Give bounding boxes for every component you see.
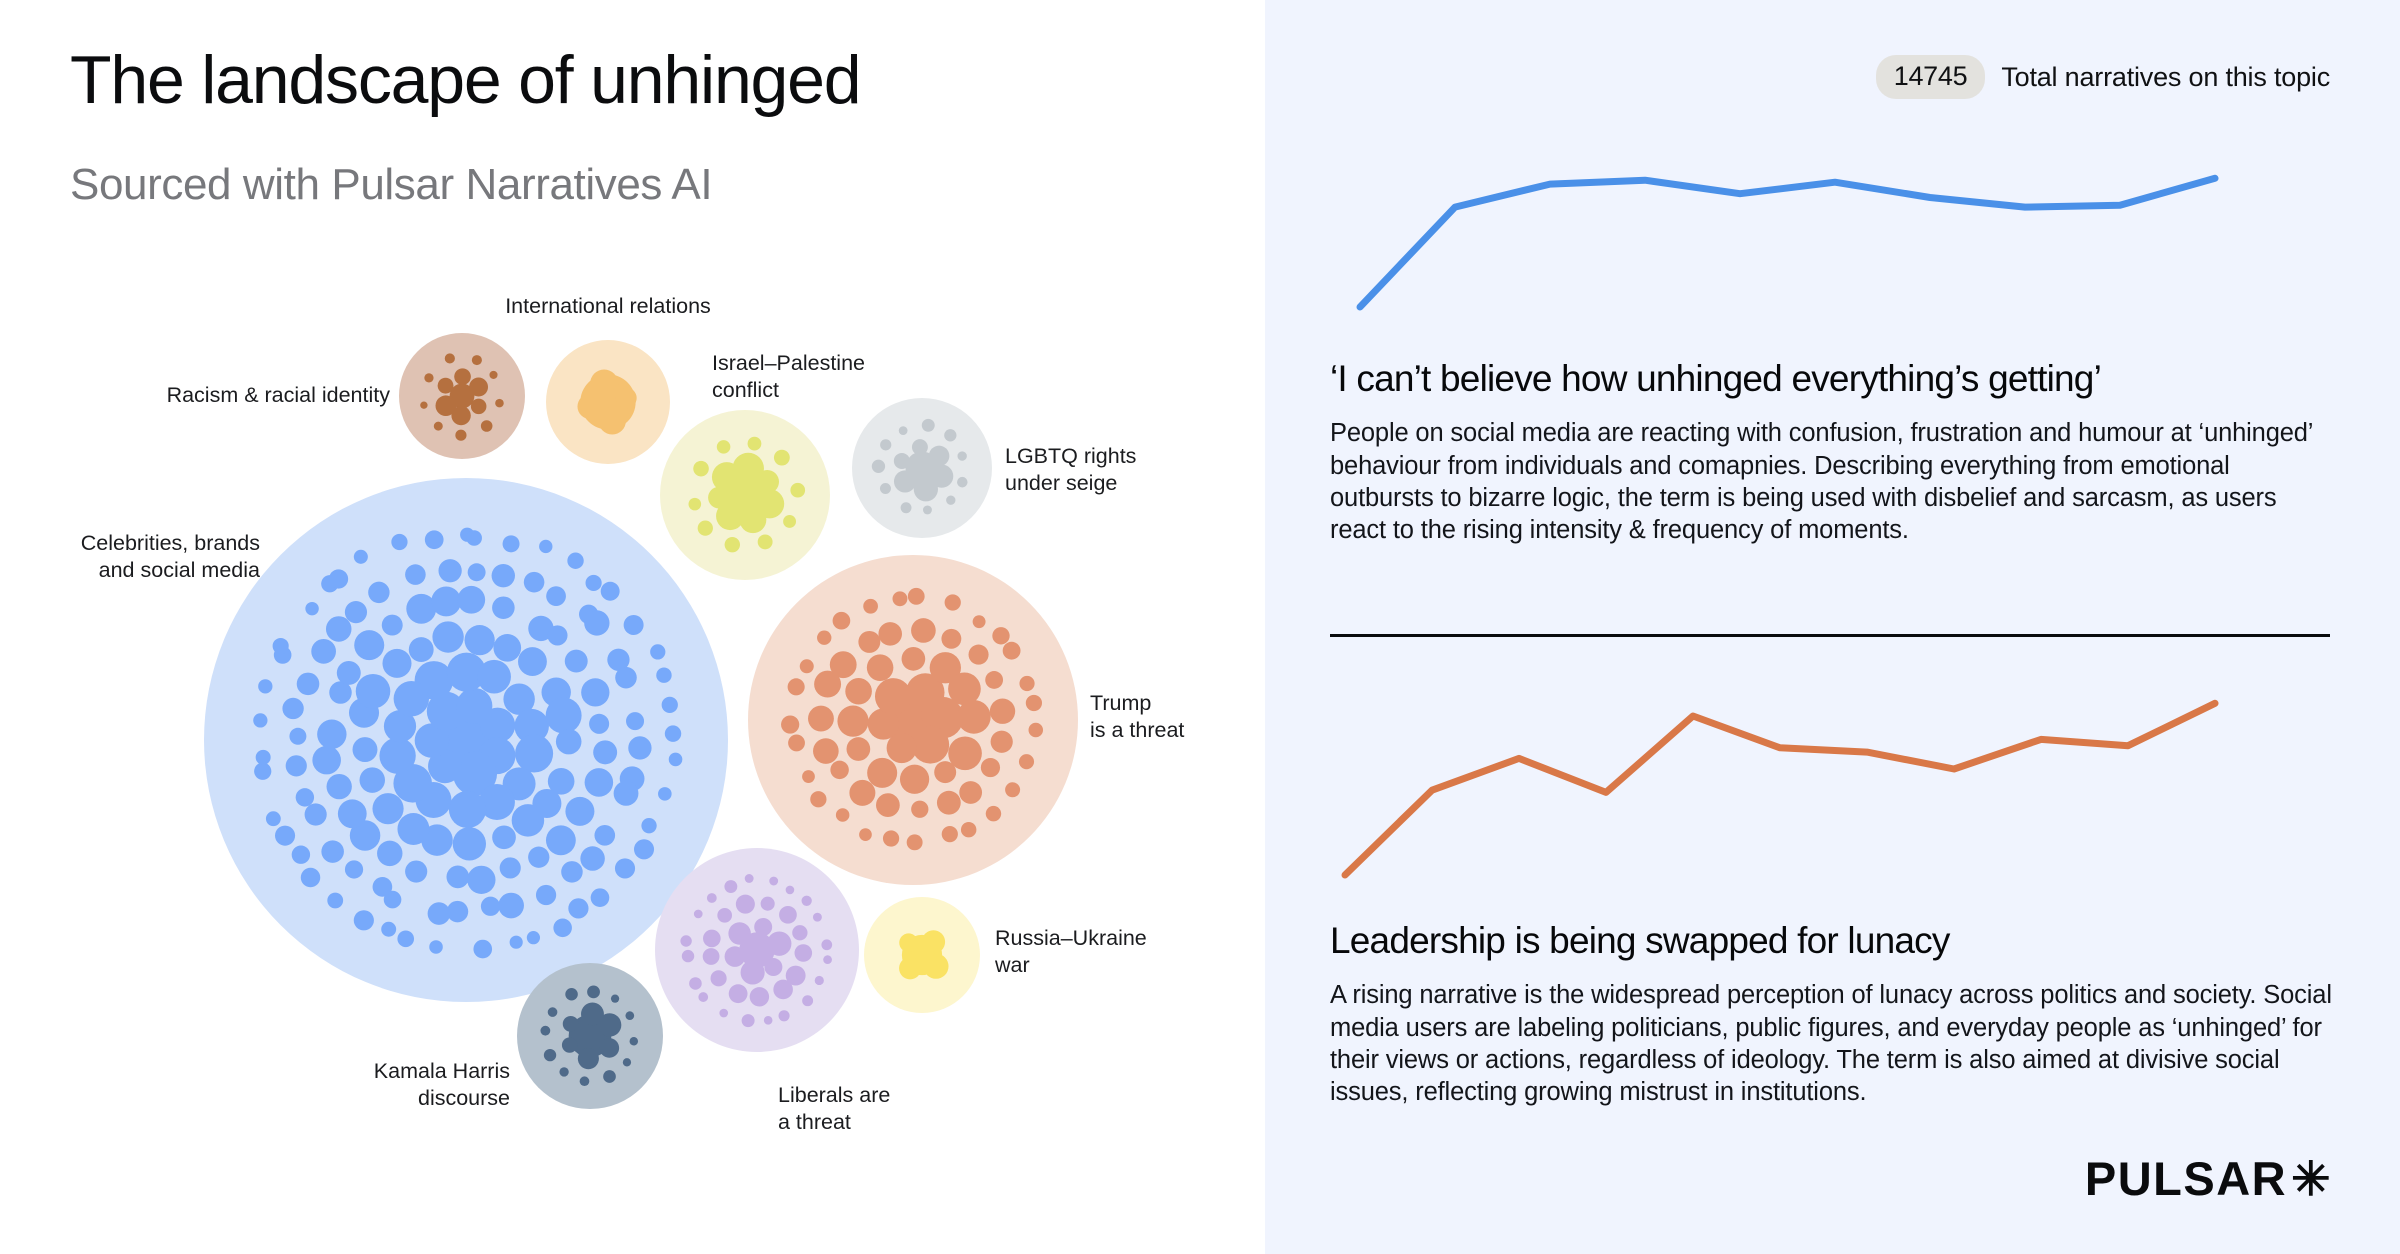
bubble-dot bbox=[338, 799, 367, 828]
bubble-dot bbox=[524, 572, 545, 593]
bubble-dot bbox=[880, 439, 891, 450]
bubble-dot bbox=[327, 774, 352, 799]
bubble-dot bbox=[372, 793, 403, 824]
bubble-dot bbox=[471, 399, 487, 415]
bubble-dot bbox=[682, 950, 694, 962]
bubble-dot bbox=[876, 793, 900, 817]
bubble-dot bbox=[724, 880, 737, 893]
bubble-dot bbox=[472, 355, 482, 365]
bubble-dot bbox=[959, 781, 982, 804]
bubble-dot bbox=[867, 758, 897, 788]
bubble-dot bbox=[957, 451, 966, 460]
bubble-dot bbox=[615, 858, 635, 878]
bubble-dot bbox=[942, 826, 958, 842]
bubble-dot bbox=[990, 699, 1015, 724]
bubble-dot bbox=[901, 502, 912, 513]
bubble-dot bbox=[317, 720, 346, 749]
bubble-dot bbox=[292, 845, 310, 863]
bubble-dot bbox=[581, 678, 609, 706]
bubble-dot bbox=[761, 897, 775, 911]
bubble-dot bbox=[908, 588, 925, 605]
bubble-dot bbox=[922, 930, 945, 953]
bubble-dot bbox=[455, 430, 466, 441]
bubble-dot bbox=[894, 453, 910, 469]
bubble-dot bbox=[656, 667, 671, 682]
bubble-dot bbox=[438, 559, 461, 582]
bubble-dot bbox=[451, 406, 470, 425]
bubble-dot bbox=[703, 948, 720, 965]
bubble-dot bbox=[405, 564, 426, 585]
bubble-dot bbox=[565, 988, 578, 1001]
bubble-dot bbox=[601, 582, 620, 601]
bubble-dot bbox=[725, 537, 740, 552]
bubble-dot bbox=[689, 498, 702, 511]
asterisk-icon: ✳ bbox=[2291, 1155, 2332, 1202]
bubble-dot bbox=[957, 700, 991, 734]
bubble-cluster bbox=[204, 478, 728, 1002]
sparkline-path bbox=[1345, 703, 2215, 875]
bubble-dot bbox=[902, 647, 926, 671]
bubble-dot bbox=[425, 530, 444, 549]
bubble-dot bbox=[424, 373, 433, 382]
bubble-dot bbox=[312, 746, 341, 775]
bubble-dot bbox=[256, 750, 271, 765]
bubble-dot bbox=[465, 625, 495, 655]
bubble-dot bbox=[883, 830, 899, 846]
bubble-dot bbox=[728, 922, 750, 944]
bubble-dot bbox=[779, 1010, 790, 1021]
bubble-dot bbox=[786, 886, 795, 895]
bubble-dot bbox=[946, 495, 955, 504]
bubble-label: Kamala Harris discourse bbox=[300, 1058, 510, 1112]
bubble-dot bbox=[329, 569, 348, 588]
bubble-cluster bbox=[655, 848, 859, 1052]
bubble-dot bbox=[305, 803, 327, 825]
bubble-dot bbox=[894, 470, 916, 492]
bubble-dot bbox=[764, 958, 782, 976]
bubble-dot bbox=[561, 861, 583, 883]
bubble-dot bbox=[623, 1058, 631, 1066]
bubble-dot bbox=[512, 804, 545, 837]
bubble-dot bbox=[815, 976, 824, 985]
bubble-dot bbox=[311, 639, 336, 664]
bubble-dot bbox=[859, 828, 872, 841]
bubble-dot bbox=[544, 1049, 556, 1061]
bubble-dot bbox=[590, 370, 618, 398]
bubble-dot bbox=[1003, 642, 1021, 660]
bubble-dot bbox=[774, 450, 790, 466]
bubble-dot bbox=[634, 839, 654, 859]
bubble-dot bbox=[981, 758, 1000, 777]
bubble-dot bbox=[420, 402, 427, 409]
bubble-dot bbox=[650, 644, 665, 659]
bubble-dot bbox=[836, 808, 850, 822]
bubble-label: Israel–Palestine conflict bbox=[712, 350, 952, 404]
bubble-dot bbox=[289, 728, 306, 745]
narrative-block-0: ‘I can’t believe how unhinged everything… bbox=[1330, 358, 2335, 546]
bubble-dot bbox=[1019, 676, 1034, 691]
bubble-dot bbox=[669, 753, 683, 767]
narrative-1-body: A rising narrative is the widespread per… bbox=[1330, 979, 2335, 1108]
bubble-dot bbox=[565, 797, 594, 826]
bubble-dot bbox=[591, 888, 610, 907]
bubble-dot bbox=[397, 813, 429, 845]
bubble-dot bbox=[500, 857, 521, 878]
bubble-dot bbox=[821, 939, 832, 950]
bubble-dot bbox=[454, 368, 471, 385]
bubble-dot bbox=[991, 731, 1013, 753]
bubble-label: International relations bbox=[478, 293, 738, 320]
bubble-dot bbox=[867, 654, 894, 681]
bubble-dot bbox=[912, 439, 928, 455]
bubble-label: Liberals are a threat bbox=[778, 1082, 978, 1136]
bubble-dot bbox=[779, 906, 797, 924]
bubble-dot bbox=[878, 622, 902, 646]
bubble-dot bbox=[498, 893, 524, 919]
bubble-dot bbox=[795, 944, 813, 962]
bubble-dot bbox=[556, 729, 582, 755]
bubble-dot bbox=[467, 866, 495, 894]
bubble-dot bbox=[719, 1009, 728, 1018]
bubble-dot bbox=[969, 645, 989, 665]
bubble-dot bbox=[961, 822, 976, 837]
bubble-dot bbox=[373, 877, 393, 897]
bubble-dot bbox=[296, 788, 314, 806]
bubble-dot bbox=[568, 898, 588, 918]
bubble-dot bbox=[559, 1067, 568, 1076]
bubble-dot bbox=[546, 697, 582, 733]
bubble-dot bbox=[957, 477, 968, 488]
bubble-dot bbox=[539, 540, 552, 553]
bubble-dot bbox=[360, 767, 386, 793]
bubble-dot bbox=[899, 933, 918, 952]
bubble-dot bbox=[800, 659, 814, 673]
pulsar-logo: PULSAR ✳ bbox=[2085, 1151, 2332, 1206]
bubble-dot bbox=[630, 1037, 638, 1045]
bubble-dot bbox=[745, 874, 754, 883]
narrative-0-body: People on social media are reacting with… bbox=[1330, 417, 2335, 546]
bubble-dot bbox=[788, 678, 805, 695]
bubble-dot bbox=[477, 660, 511, 694]
bubble-dot bbox=[830, 651, 857, 678]
bubble-dot bbox=[1029, 723, 1044, 738]
bubble-dot bbox=[397, 930, 414, 947]
bubble-cluster bbox=[660, 410, 830, 580]
bubble-dot bbox=[754, 918, 772, 936]
bubble-dot bbox=[453, 827, 486, 860]
bubble-dot bbox=[429, 940, 443, 954]
bubble-dot bbox=[625, 1011, 634, 1020]
bubble-dot bbox=[717, 908, 732, 923]
bubble-dot bbox=[911, 726, 949, 764]
bubble-dot bbox=[1005, 782, 1020, 797]
bubble-dot bbox=[742, 1014, 755, 1027]
bubble-dot bbox=[899, 957, 921, 979]
bubble-dot bbox=[354, 630, 384, 660]
bubble-dot bbox=[587, 985, 600, 998]
bubble-dot bbox=[379, 738, 415, 774]
bubble-dot bbox=[469, 378, 488, 397]
bubble-dot bbox=[641, 818, 656, 833]
bubble-dot bbox=[689, 977, 702, 990]
bubble-dot bbox=[764, 1016, 773, 1025]
bubble-dot bbox=[802, 995, 813, 1006]
bubble-dot bbox=[481, 897, 500, 916]
bubble-dot bbox=[624, 615, 644, 635]
bubble-dot bbox=[391, 534, 407, 550]
bubble-dot bbox=[790, 483, 805, 498]
bubble-dot bbox=[368, 582, 389, 603]
bubble-label: Russia–Ukraine war bbox=[995, 925, 1215, 979]
bubble-dot bbox=[445, 353, 455, 363]
infographic-root: The landscape of unhinged Sourced with P… bbox=[0, 0, 2400, 1254]
narrative-block-1: Leadership is being swapped for lunacy A… bbox=[1330, 920, 2335, 1108]
bubble-dot bbox=[438, 378, 454, 394]
bubble-dot bbox=[703, 930, 721, 948]
bubble-cluster bbox=[517, 963, 663, 1109]
bubble-dot bbox=[923, 505, 932, 514]
bubble-dot bbox=[585, 768, 614, 797]
bubble-dot bbox=[929, 446, 950, 467]
bubble-dot bbox=[698, 521, 713, 536]
bubble-dot bbox=[802, 770, 815, 783]
bubble-dot bbox=[813, 738, 839, 764]
bubble-dot bbox=[586, 575, 602, 591]
bubble-dot bbox=[275, 826, 295, 846]
bubble-dot bbox=[449, 791, 486, 828]
bubble-dot bbox=[741, 960, 765, 984]
bubble-dot bbox=[394, 681, 429, 716]
bubble-dot bbox=[662, 697, 678, 713]
bubble-dot bbox=[428, 902, 451, 925]
bubble-dot bbox=[567, 553, 583, 569]
bubble-dot bbox=[911, 801, 928, 818]
bubble-dot bbox=[707, 893, 717, 903]
bubble-dot bbox=[321, 840, 344, 863]
bubble-dot bbox=[510, 936, 523, 949]
bubble-dot bbox=[628, 736, 651, 759]
bubble-dot bbox=[773, 980, 793, 1000]
bubble-dot bbox=[282, 698, 303, 719]
bubble-dot bbox=[893, 591, 908, 606]
bubble-dot bbox=[493, 634, 521, 662]
bubble-dot bbox=[833, 612, 851, 630]
bubble-dot bbox=[945, 594, 961, 610]
bubble-dot bbox=[546, 825, 576, 855]
bubble-dot bbox=[934, 761, 956, 783]
section-divider bbox=[1330, 634, 2330, 637]
bubble-dot bbox=[345, 601, 367, 623]
bubble-dot bbox=[492, 825, 516, 849]
bubble-dot bbox=[457, 586, 485, 614]
bubble-dot bbox=[481, 420, 493, 432]
total-narratives-row: 14745 Total narratives on this topic bbox=[1876, 55, 2330, 99]
narrative-0-sparkline bbox=[1265, 118, 2400, 348]
bubble-dot bbox=[405, 860, 427, 882]
bubble-dot bbox=[875, 678, 912, 715]
bubble-dot bbox=[434, 422, 443, 431]
right-panel: 14745 Total narratives on this topic ‘I … bbox=[1265, 0, 2400, 1254]
bubble-dot bbox=[594, 825, 615, 846]
bubble-dot bbox=[665, 725, 681, 741]
bubble-dot bbox=[305, 602, 318, 615]
bubble-dot bbox=[536, 885, 556, 905]
bubble-dot bbox=[377, 841, 402, 866]
bubble-dot bbox=[781, 715, 799, 733]
bubble-dot bbox=[446, 866, 469, 889]
bubble-dot bbox=[937, 791, 961, 815]
bubble-dot bbox=[466, 530, 482, 546]
narrative-1-title: Leadership is being swapped for lunacy bbox=[1330, 920, 2335, 961]
bubble-dot bbox=[922, 419, 935, 432]
bubble-dot bbox=[985, 671, 1003, 689]
bubble-dot bbox=[301, 868, 321, 888]
bubble-dot bbox=[837, 706, 868, 737]
bubble-dot bbox=[577, 394, 602, 419]
bubble-dot bbox=[614, 781, 639, 806]
bubble-dot bbox=[599, 407, 626, 434]
bubble-dot bbox=[354, 550, 368, 564]
bubble-dot bbox=[382, 649, 411, 678]
bubble-dot bbox=[253, 713, 267, 727]
bubble-dot bbox=[973, 615, 986, 628]
bubble-dot bbox=[858, 631, 880, 653]
bubble-dot bbox=[327, 893, 343, 909]
bubble-dot bbox=[254, 763, 271, 780]
bubble-dot bbox=[603, 1070, 616, 1083]
bubble-dot bbox=[808, 706, 834, 732]
bubble-dot bbox=[495, 399, 504, 408]
bubble-dot bbox=[409, 637, 434, 662]
bubble-dot bbox=[849, 780, 875, 806]
bubble-dot bbox=[356, 674, 391, 709]
left-panel: The landscape of unhinged Sourced with P… bbox=[0, 0, 1265, 1254]
bubble-dot bbox=[540, 1026, 550, 1036]
bubble-label: LGBTQ rights under seige bbox=[1005, 443, 1225, 497]
narrative-0-title: ‘I can’t believe how unhinged everything… bbox=[1330, 358, 2335, 399]
bubble-dot bbox=[907, 834, 923, 850]
bubble-dot bbox=[1019, 754, 1034, 769]
bubble-dot bbox=[600, 1038, 620, 1058]
bubble-dot bbox=[729, 984, 748, 1003]
bubble-dot bbox=[847, 737, 871, 761]
bubble-dot bbox=[817, 631, 831, 645]
bubble-dot bbox=[337, 661, 361, 685]
bubble-dot bbox=[986, 806, 1001, 821]
bubble-dot bbox=[382, 615, 403, 636]
bubble-dot bbox=[584, 610, 609, 635]
bubble-dot bbox=[626, 712, 644, 730]
bubble-dot bbox=[546, 586, 566, 606]
bubble-dot bbox=[503, 535, 520, 552]
bubble-dot bbox=[694, 910, 703, 919]
bubble-dot bbox=[580, 1076, 590, 1086]
bubble-dot bbox=[830, 761, 848, 779]
bubble-dot bbox=[563, 1016, 579, 1032]
bubble-dot bbox=[553, 919, 572, 938]
bubble-dot bbox=[748, 437, 762, 451]
bubble-cluster-chart: Racism & racial identityInternational re… bbox=[0, 0, 1265, 1254]
bubble-dot bbox=[589, 714, 609, 734]
bubble-dot bbox=[863, 599, 878, 614]
bubble-dot bbox=[528, 847, 549, 868]
bubble-dot bbox=[456, 688, 492, 724]
bubble-dot bbox=[593, 740, 617, 764]
bubble-dot bbox=[680, 935, 691, 946]
bubble-dot bbox=[693, 461, 709, 477]
bubble-dot bbox=[611, 995, 619, 1003]
bubble-dot bbox=[354, 910, 374, 930]
bubble-dot bbox=[489, 371, 497, 379]
bubble-cluster bbox=[852, 398, 992, 538]
bubble-label: Racism & racial identity bbox=[135, 382, 390, 409]
bubble-dots bbox=[899, 930, 948, 979]
bubble-dot bbox=[810, 791, 826, 807]
bubble-dot bbox=[578, 1048, 599, 1069]
bubble-dot bbox=[941, 629, 961, 649]
bubble-dot bbox=[492, 564, 515, 587]
bubble-cluster bbox=[748, 555, 1078, 885]
sparkline-path bbox=[1360, 178, 2215, 307]
bubble-dot bbox=[432, 621, 463, 652]
bubble-dot bbox=[769, 877, 778, 886]
bubble-dot bbox=[297, 673, 320, 696]
bubble-dot bbox=[353, 737, 378, 762]
bubble-dot bbox=[711, 970, 727, 986]
bubble-dot bbox=[562, 1037, 577, 1052]
bubble-dot bbox=[658, 787, 672, 801]
bubble-dot bbox=[266, 811, 281, 826]
bubble-dot bbox=[527, 931, 540, 944]
bubble-dot bbox=[880, 483, 891, 494]
bubble-dot bbox=[725, 946, 746, 967]
bubble-dot bbox=[911, 618, 936, 643]
bubble-dot bbox=[992, 627, 1009, 644]
bubble-dot bbox=[548, 1007, 558, 1017]
bubble-dot bbox=[286, 755, 307, 776]
bubble-dot bbox=[823, 955, 832, 964]
bubble-dot bbox=[900, 765, 929, 794]
bubble-dot bbox=[944, 429, 956, 441]
bubble-dot bbox=[698, 992, 708, 1002]
pulsar-wordmark: PULSAR bbox=[2085, 1151, 2287, 1206]
total-narratives-label: Total narratives on this topic bbox=[2001, 62, 2330, 93]
bubble-cluster bbox=[399, 333, 525, 459]
bubble-dot bbox=[914, 477, 938, 501]
bubble-dot bbox=[899, 426, 908, 435]
bubble-dot bbox=[736, 895, 755, 914]
bubble-dot bbox=[273, 638, 289, 654]
narrative-1-sparkline bbox=[1265, 660, 2400, 910]
bubble-dot bbox=[813, 913, 822, 922]
bubble-dot bbox=[802, 896, 812, 906]
bubble-dot bbox=[755, 489, 784, 518]
bubble-dot bbox=[872, 460, 885, 473]
bubble-dot bbox=[616, 388, 637, 409]
bubble-dot bbox=[767, 931, 791, 955]
bubble-dot bbox=[750, 987, 769, 1006]
bubble-cluster bbox=[864, 897, 980, 1013]
bubble-dot bbox=[518, 647, 547, 676]
bubble-dot bbox=[468, 563, 486, 581]
bubble-dot bbox=[717, 440, 731, 454]
bubble-label: Trump is a threat bbox=[1090, 690, 1290, 744]
bubble-dot bbox=[845, 678, 872, 705]
bubble-dot bbox=[431, 586, 461, 616]
bubble-dot bbox=[1026, 695, 1042, 711]
bubble-dot bbox=[581, 1003, 604, 1026]
bubble-dot bbox=[492, 596, 515, 619]
